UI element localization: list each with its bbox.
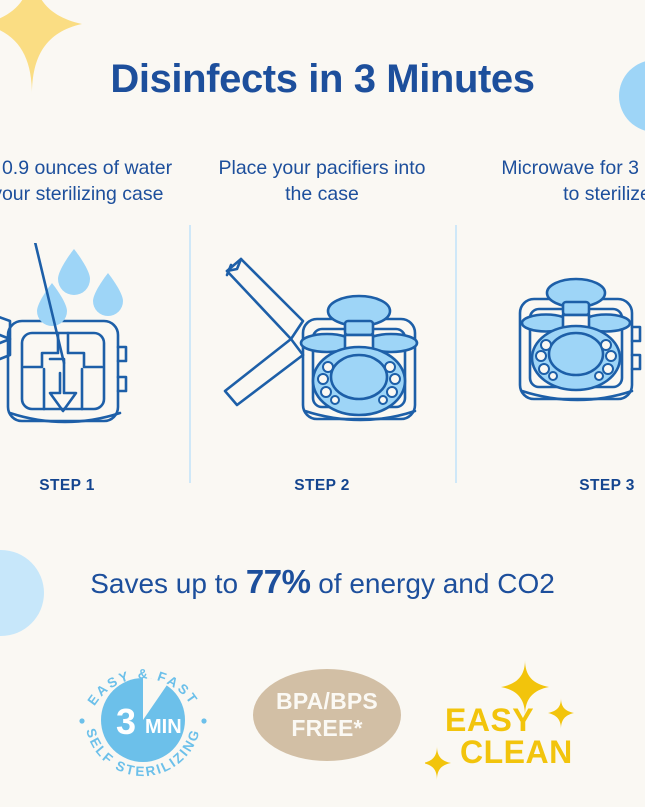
infographic-canvas: Disinfects in 3 Minutes Add 0.9 ounces o… <box>0 0 645 807</box>
badges-row: EASY & FAST SELF STERILIZING 3 MIN BPA/B… <box>0 648 645 788</box>
badge-minutes-number: 3 <box>116 701 136 742</box>
step-3: Microwave for 3 minutes to sterilize <box>492 155 645 505</box>
page-title: Disinfects in 3 Minutes <box>0 57 645 102</box>
step-1-label: STEP 1 <box>0 477 182 495</box>
step-1: Add 0.9 ounces of water to your steriliz… <box>0 155 182 505</box>
badge-3min-self-sterilizing: EASY & FAST SELF STERILIZING 3 MIN <box>72 652 214 784</box>
savings-percent: 77% <box>246 563 311 600</box>
steps-section: Add 0.9 ounces of water to your steriliz… <box>0 155 645 505</box>
step-3-caption: Microwave for 3 minutes to sterilize <box>492 155 645 207</box>
step-divider-1 <box>189 225 191 483</box>
step-3-illustration <box>492 243 645 443</box>
savings-suffix: of energy and CO2 <box>310 568 554 599</box>
badge-clean-line2: CLEAN <box>460 734 573 771</box>
badge-easy-clean: EASY CLEAN <box>425 654 595 784</box>
step-2: Place your pacifiers into the case <box>207 155 437 505</box>
step-3-label: STEP 3 <box>492 477 645 495</box>
step-1-caption: Add 0.9 ounces of water to your steriliz… <box>0 155 182 207</box>
badge-bpa-bps-free: BPA/BPS FREE* <box>253 669 401 761</box>
savings-prefix: Saves up to <box>90 568 246 599</box>
pacifier-icon <box>522 279 630 390</box>
step-2-illustration <box>207 243 437 443</box>
water-drop <box>37 249 123 326</box>
step-divider-2 <box>455 225 457 483</box>
step-1-illustration <box>0 243 182 443</box>
step-2-label: STEP 2 <box>207 477 437 495</box>
pacifier-icon <box>301 296 417 415</box>
badge-minutes-unit: MIN <box>145 716 182 738</box>
badge-bpa-line1: BPA/BPS <box>276 688 378 715</box>
savings-statement: Saves up to 77% of energy and CO2 <box>0 563 645 601</box>
step-2-caption: Place your pacifiers into the case <box>207 155 437 207</box>
badge-bpa-line2: FREE* <box>291 715 362 742</box>
